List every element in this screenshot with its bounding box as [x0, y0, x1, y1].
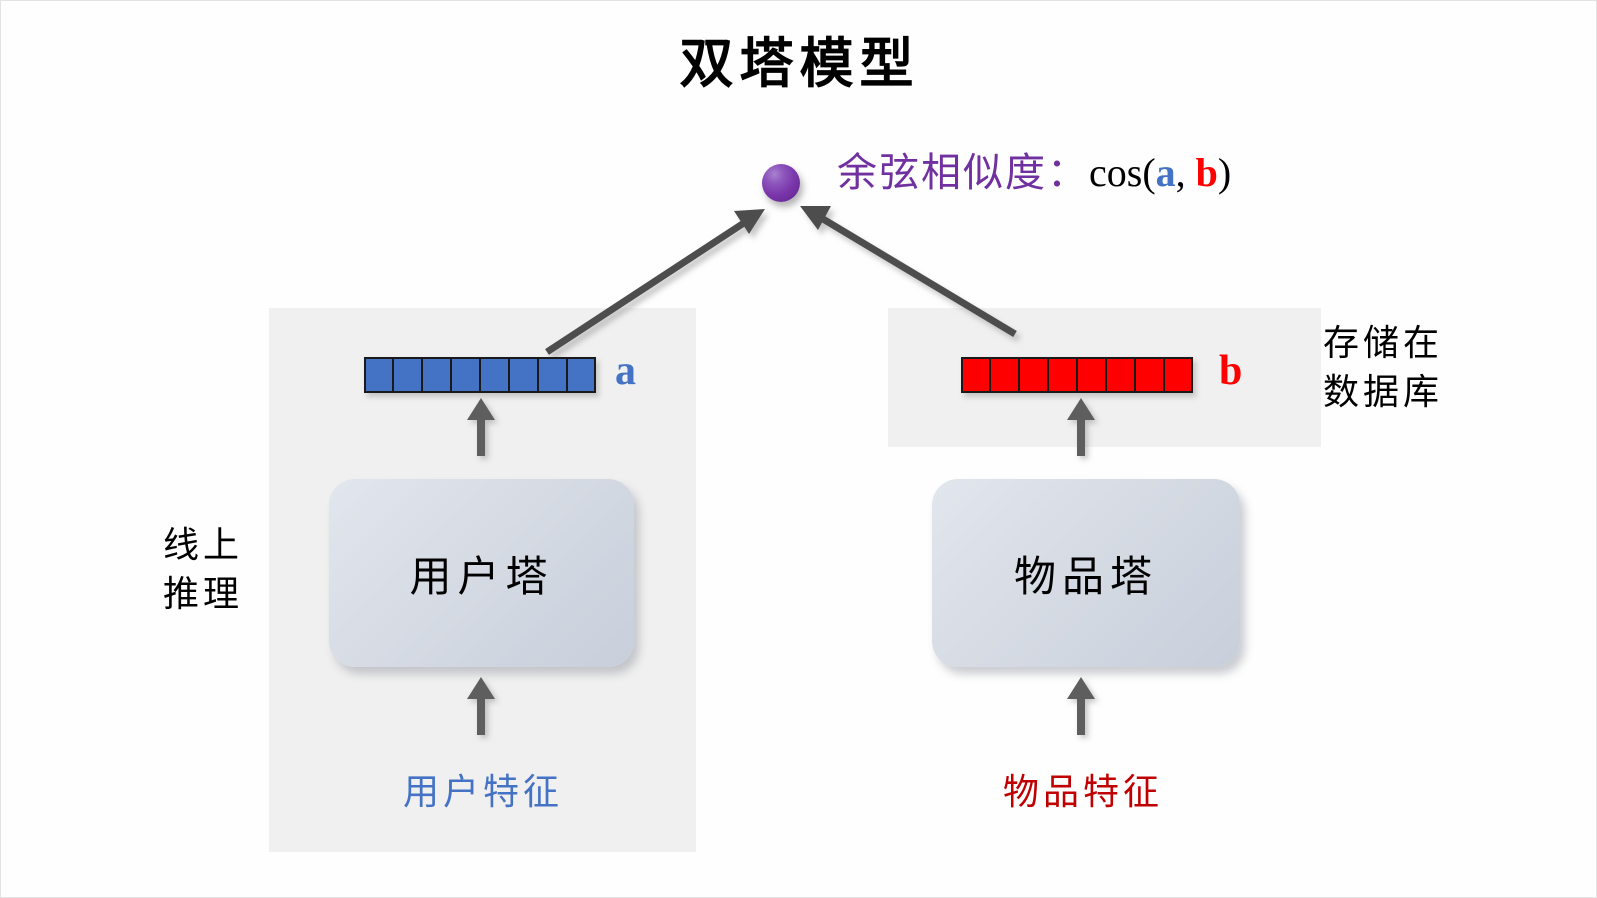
vector-cell — [1019, 357, 1048, 393]
cosine-similarity-caption: 余弦相似度：cos(a, b) — [837, 153, 1231, 193]
vector-cell — [1135, 357, 1164, 393]
arrow-item-features-to-tower — [1064, 677, 1098, 735]
cosine-arg-separator: , — [1176, 150, 1196, 195]
vector-cell — [451, 357, 480, 393]
online-inference-note-line1: 线上 — [163, 521, 243, 570]
cosine-close-paren: ) — [1218, 150, 1231, 195]
vector-cell — [509, 357, 538, 393]
cosine-arg-a: a — [1156, 150, 1176, 195]
vector-cell — [480, 357, 509, 393]
vector-cell — [990, 357, 1019, 393]
vector-cell — [364, 357, 393, 393]
slide-canvas: 双塔模型 余弦相似度：cos(a, b) a b — [0, 0, 1597, 898]
cosine-open-paren: cos( — [1089, 150, 1156, 195]
cosine-arg-b: b — [1196, 150, 1218, 195]
similarity-sphere-icon — [762, 164, 800, 202]
database-storage-note-line1: 存储在 — [1323, 319, 1443, 368]
arrow-item-tower-to-embedding — [1064, 398, 1098, 456]
arrow-user-features-to-tower — [464, 677, 498, 735]
user-embedding-label: a — [615, 350, 636, 392]
item-embedding-vector — [961, 357, 1193, 393]
online-inference-note: 线上 推理 — [163, 521, 243, 618]
database-storage-note: 存储在 数据库 — [1323, 319, 1443, 416]
page-title: 双塔模型 — [1, 19, 1597, 98]
online-inference-note-line2: 推理 — [163, 570, 243, 619]
vector-cell — [567, 357, 596, 393]
user-tower-box[interactable]: 用户塔 — [329, 479, 634, 667]
item-tower-label: 物品塔 — [1014, 543, 1158, 604]
vector-cell — [1077, 357, 1106, 393]
vector-cell — [538, 357, 567, 393]
vector-cell — [1106, 357, 1135, 393]
vector-cell — [422, 357, 451, 393]
similarity-arrows — [1, 1, 1597, 898]
user-tower-label: 用户塔 — [409, 543, 553, 604]
vector-cell — [393, 357, 422, 393]
user-features-label: 用户特征 — [403, 763, 563, 815]
vector-cell — [1164, 357, 1193, 393]
item-embedding-label: b — [1219, 350, 1242, 392]
cosine-similarity-chinese-label: 余弦相似度： — [837, 150, 1089, 195]
database-storage-note-line2: 数据库 — [1323, 368, 1443, 417]
item-tower-box[interactable]: 物品塔 — [932, 479, 1240, 667]
user-embedding-vector — [364, 357, 596, 393]
vector-cell — [1048, 357, 1077, 393]
item-features-label: 物品特征 — [1003, 763, 1163, 815]
vector-cell — [961, 357, 990, 393]
arrow-user-tower-to-embedding — [464, 398, 498, 456]
